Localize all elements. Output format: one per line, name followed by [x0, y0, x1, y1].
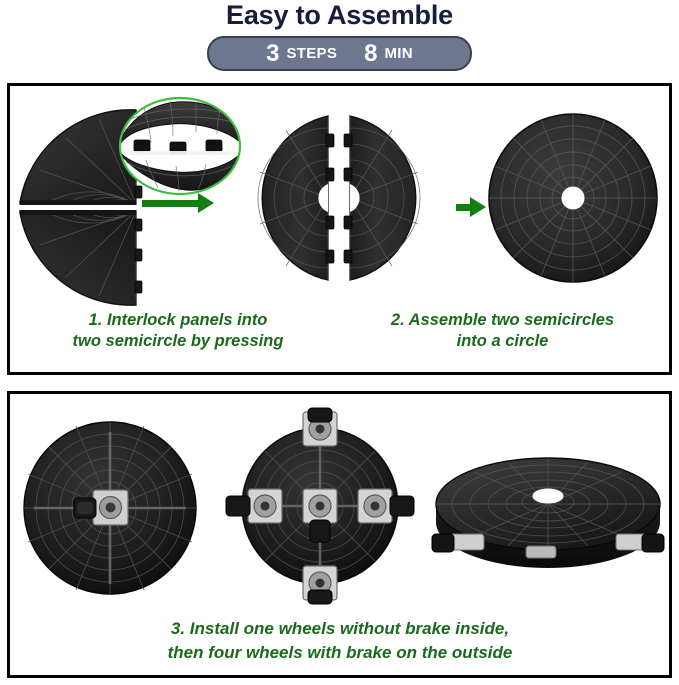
caster-top — [303, 408, 337, 446]
assembly-arrow-2-icon — [456, 197, 486, 218]
step-3-caption: 3. Install one wheels without brake insi… — [30, 617, 650, 665]
steps-count: 3 — [266, 42, 279, 66]
base-underside-one-caster — [20, 418, 200, 598]
step-3-caption-line-1: 3. Install one wheels without brake insi… — [30, 617, 650, 641]
interlock-detail-callout — [118, 96, 242, 196]
minutes-label: MIN — [385, 46, 413, 61]
caster-front-center — [526, 546, 556, 558]
caster-front-left — [432, 534, 484, 552]
base-assembled-3d — [430, 438, 666, 584]
base-underside-five-casters — [222, 408, 418, 604]
instruction-graphic: Easy to Assemble 3 STEPS 8 MIN — [0, 0, 679, 685]
status-badge: 3 STEPS 8 MIN — [207, 36, 472, 71]
step-2-caption-line-2: into a circle — [345, 331, 660, 352]
arrow-shaft — [142, 200, 200, 207]
caster-left — [226, 489, 282, 523]
step-3-caption-line-2: then four wheels with brake on the outsi… — [30, 641, 650, 665]
assembly-arrow-1-icon — [142, 193, 214, 214]
step-1-caption-line-1: 1. Interlock panels into — [28, 310, 328, 331]
caster-front-right — [616, 534, 664, 552]
step-1-caption-line-2: two semicircle by pressing — [28, 331, 328, 352]
caster-right — [358, 489, 414, 523]
minutes-count: 8 — [364, 42, 377, 66]
header: Easy to Assemble 3 STEPS 8 MIN — [0, 0, 679, 83]
step-2-caption: 2. Assemble two semicircles into a circl… — [345, 310, 660, 352]
steps-label: STEPS — [286, 46, 337, 61]
step-2-caption-line-1: 2. Assemble two semicircles — [345, 310, 660, 331]
quarter-panel-lower — [14, 207, 142, 315]
arrow-head — [198, 193, 214, 213]
assembled-circle-base — [487, 112, 659, 284]
page-title: Easy to Assemble — [0, 0, 679, 31]
caster-bottom — [303, 566, 337, 604]
step-1-caption: 1. Interlock panels into two semicircle … — [28, 310, 328, 352]
arrow-head — [470, 197, 486, 217]
semicircle-right — [344, 112, 420, 284]
semicircle-left — [258, 112, 334, 284]
